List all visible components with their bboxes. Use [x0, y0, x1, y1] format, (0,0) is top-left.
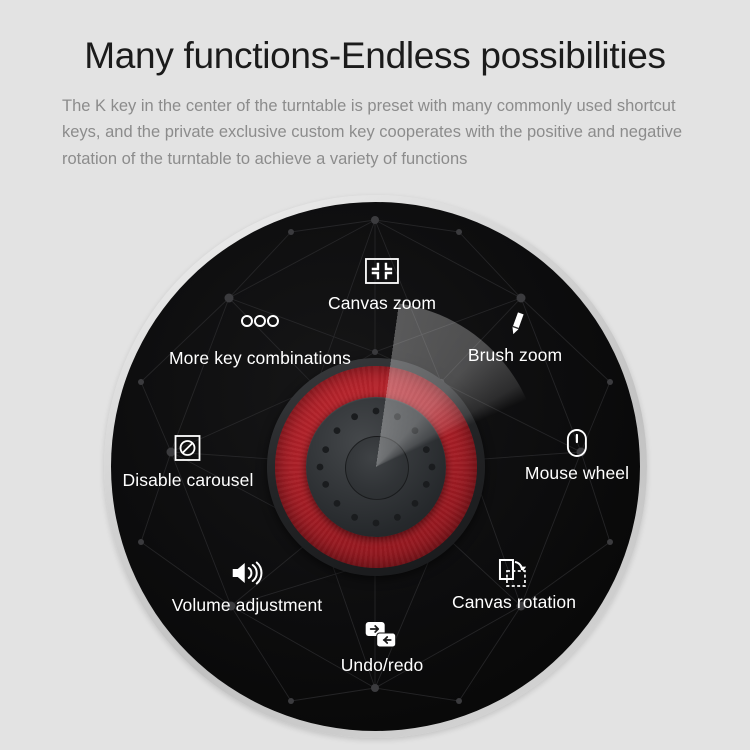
canvas-zoom-icon: [328, 258, 436, 288]
feature-undo-redo[interactable]: Undo/redo: [341, 620, 424, 676]
page-title: Many functions-Endless possibilities: [0, 0, 750, 77]
disc-face: Canvas zoom Brush zoom: [111, 202, 640, 731]
feature-label: Brush zoom: [468, 345, 562, 366]
mouse-icon: [525, 428, 629, 458]
feature-label: Mouse wheel: [525, 463, 629, 484]
header: Many functions-Endless possibilities The…: [0, 0, 750, 173]
page-description: The K key in the center of the turntable…: [0, 77, 750, 173]
turntable-dial[interactable]: [267, 358, 485, 576]
knob-inner-circle[interactable]: [345, 436, 409, 500]
rotate-icon: [452, 557, 576, 587]
feature-canvas-rotation[interactable]: Canvas rotation: [452, 557, 576, 613]
feature-more-key-combinations[interactable]: More key combinations: [169, 313, 351, 369]
feature-disable-carousel[interactable]: Disable carousel: [123, 435, 254, 491]
feature-volume-adjustment[interactable]: Volume adjustment: [172, 560, 323, 616]
feature-label: Canvas zoom: [328, 293, 436, 314]
turntable-illustration: Canvas zoom Brush zoom: [104, 195, 647, 738]
feature-label: Disable carousel: [123, 470, 254, 491]
feature-label: Volume adjustment: [172, 595, 323, 616]
feature-canvas-zoom[interactable]: Canvas zoom: [328, 258, 436, 314]
promo-page: Many functions-Endless possibilities The…: [0, 0, 750, 750]
feature-label: Undo/redo: [341, 655, 424, 676]
undo-redo-icon: [341, 620, 424, 650]
feature-mouse-wheel[interactable]: Mouse wheel: [525, 428, 629, 484]
ellipsis-icon: [169, 313, 351, 343]
pencil-icon: [468, 310, 562, 340]
prohibited-icon: [123, 435, 254, 465]
dial-center-knob[interactable]: [306, 397, 446, 537]
feature-brush-zoom[interactable]: Brush zoom: [468, 310, 562, 366]
speaker-icon: [172, 560, 323, 590]
feature-label: More key combinations: [169, 348, 351, 369]
feature-label: Canvas rotation: [452, 592, 576, 613]
